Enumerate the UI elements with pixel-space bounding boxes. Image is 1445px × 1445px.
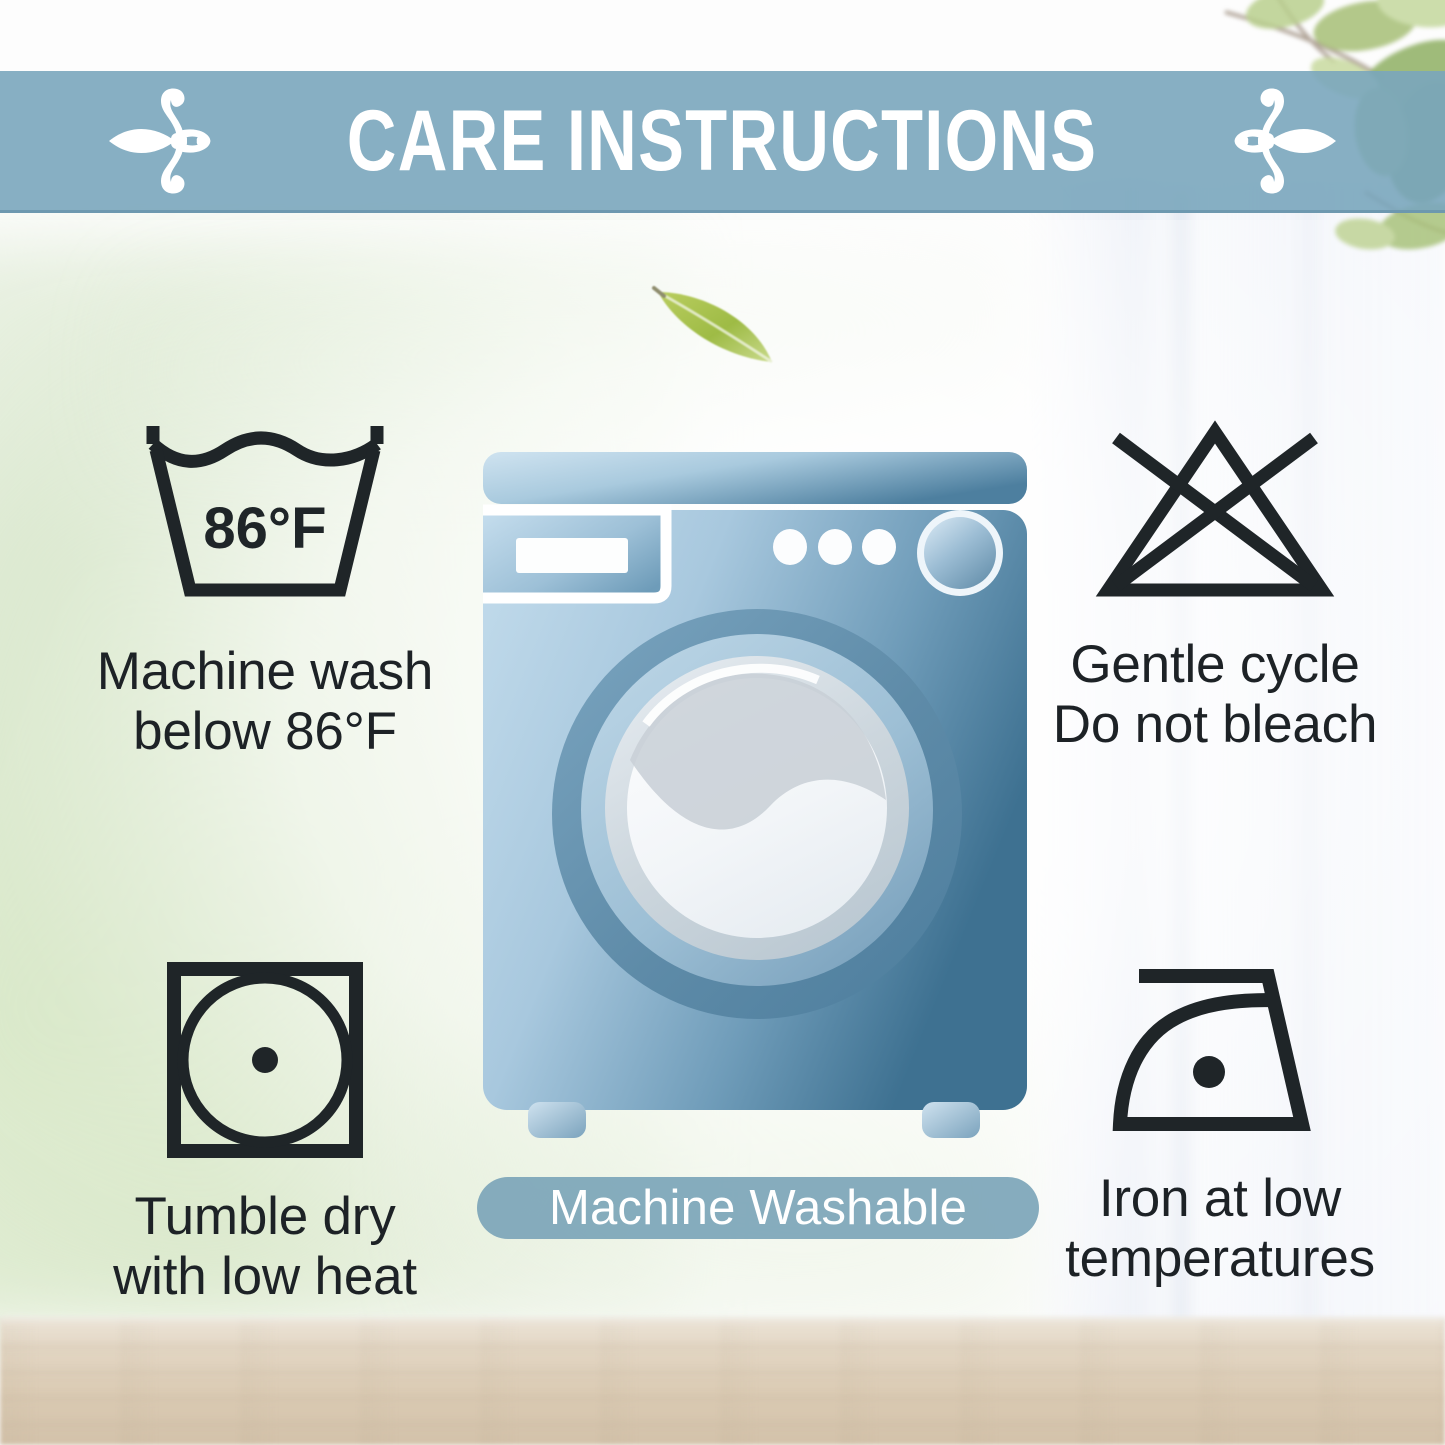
care-instructions-infographic: CARE INSTRUCTIONS: [0, 0, 1445, 1445]
washer-indicator-lights: [773, 529, 896, 565]
washer-control-knob: [917, 510, 1003, 596]
background-wood-grain: [0, 1318, 1445, 1445]
falling-leaf-icon: [650, 278, 780, 368]
washer-door: [552, 609, 962, 1019]
washer-top-lid: [483, 452, 1027, 504]
care-item-caption: Iron at low temperatures: [1065, 1169, 1375, 1290]
fleur-de-lis-icon-left: [99, 85, 219, 197]
do-not-bleach-triangle-icon: [1086, 418, 1344, 613]
page-title: CARE INSTRUCTIONS: [347, 98, 1097, 184]
care-item-do-not-bleach: Gentle cycle Do not bleach: [1000, 418, 1430, 756]
tumble-dry-low-icon: [165, 960, 365, 1165]
wash-temperature-label: 86°F: [203, 496, 326, 561]
iron-low-temperature-icon: [1102, 960, 1338, 1145]
background-table-edge: [0, 1316, 1445, 1326]
washer-detergent-drawer: [483, 510, 666, 598]
header-banner: CARE INSTRUCTIONS: [0, 71, 1445, 213]
wash-tub-icon: 86°F: [135, 418, 395, 618]
machine-washable-label: Machine Washable: [549, 1184, 967, 1233]
machine-washable-badge: Machine Washable: [477, 1177, 1039, 1239]
care-item-caption: Gentle cycle Do not bleach: [1053, 635, 1377, 756]
care-item-caption: Tumble dry with low heat: [113, 1187, 417, 1308]
care-item-machine-wash: 86°F Machine wash below 86°F: [30, 418, 500, 763]
washing-machine-illustration: [470, 440, 1040, 1140]
care-item-caption: Machine wash below 86°F: [97, 642, 433, 763]
care-item-tumble-dry: Tumble dry with low heat: [35, 960, 495, 1308]
fleur-de-lis-icon-right: [1226, 85, 1346, 197]
care-item-iron-low: Iron at low temperatures: [1010, 960, 1430, 1290]
